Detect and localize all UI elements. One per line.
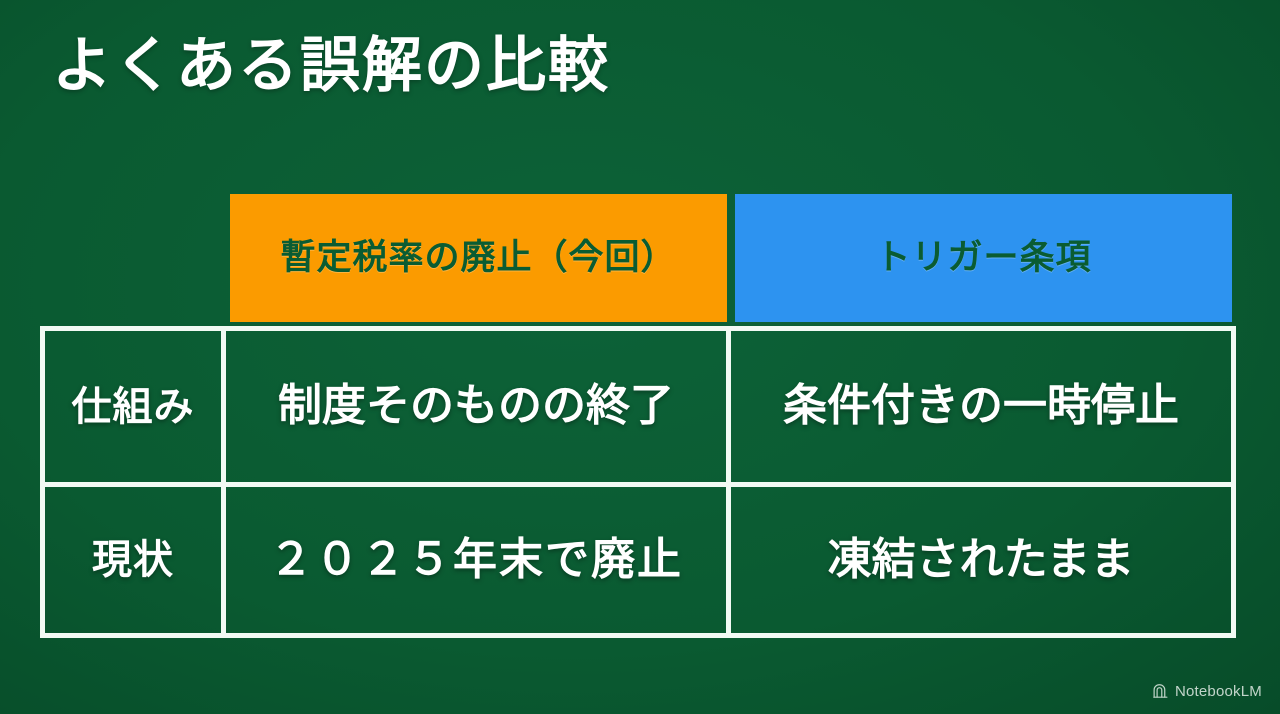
header-cell-column-1: 暫定税率の廃止（今回）	[226, 190, 731, 326]
header-label-temporary-tax-abolition: 暫定税率の廃止（今回）	[230, 194, 727, 322]
cell-value: ２０２５年末で廃止	[269, 534, 683, 587]
header-cell-column-2: トリガー条項	[731, 190, 1236, 326]
table-row: 現状 ２０２５年末で廃止 凍結されたまま	[40, 482, 1236, 638]
cell-status-abolition: ２０２５年末で廃止	[226, 482, 731, 638]
comparison-table: 暫定税率の廃止（今回） トリガー条項 仕組み 制度そのものの終了 条件付きの一時…	[40, 190, 1236, 638]
cell-value: 制度そのものの終了	[278, 380, 674, 433]
header-corner-spacer	[40, 190, 226, 326]
cell-status-trigger: 凍結されたまま	[731, 482, 1236, 638]
row-label-text: 仕組み	[72, 383, 195, 431]
row-label-status: 現状	[40, 482, 226, 638]
cell-value: 条件付きの一時停止	[783, 380, 1179, 433]
cell-value: 凍結されたまま	[828, 534, 1135, 587]
slide-canvas: よくある誤解の比較 暫定税率の廃止（今回） トリガー条項 仕組み 制度そのものの…	[0, 0, 1280, 714]
notebooklm-label: NotebookLM	[1175, 683, 1262, 700]
cell-mechanism-trigger: 条件付きの一時停止	[731, 326, 1236, 482]
table-header-row: 暫定税率の廃止（今回） トリガー条項	[40, 190, 1236, 326]
table-row: 仕組み 制度そのものの終了 条件付きの一時停止	[40, 326, 1236, 482]
row-label-mechanism: 仕組み	[40, 326, 226, 482]
page-title: よくある誤解の比較	[52, 30, 610, 102]
notebooklm-watermark: NotebookLM	[1152, 683, 1262, 700]
cell-mechanism-abolition: 制度そのものの終了	[226, 326, 731, 482]
header-label-trigger-clause: トリガー条項	[735, 194, 1232, 322]
notebooklm-icon	[1152, 683, 1169, 700]
row-label-text: 現状	[92, 536, 174, 584]
